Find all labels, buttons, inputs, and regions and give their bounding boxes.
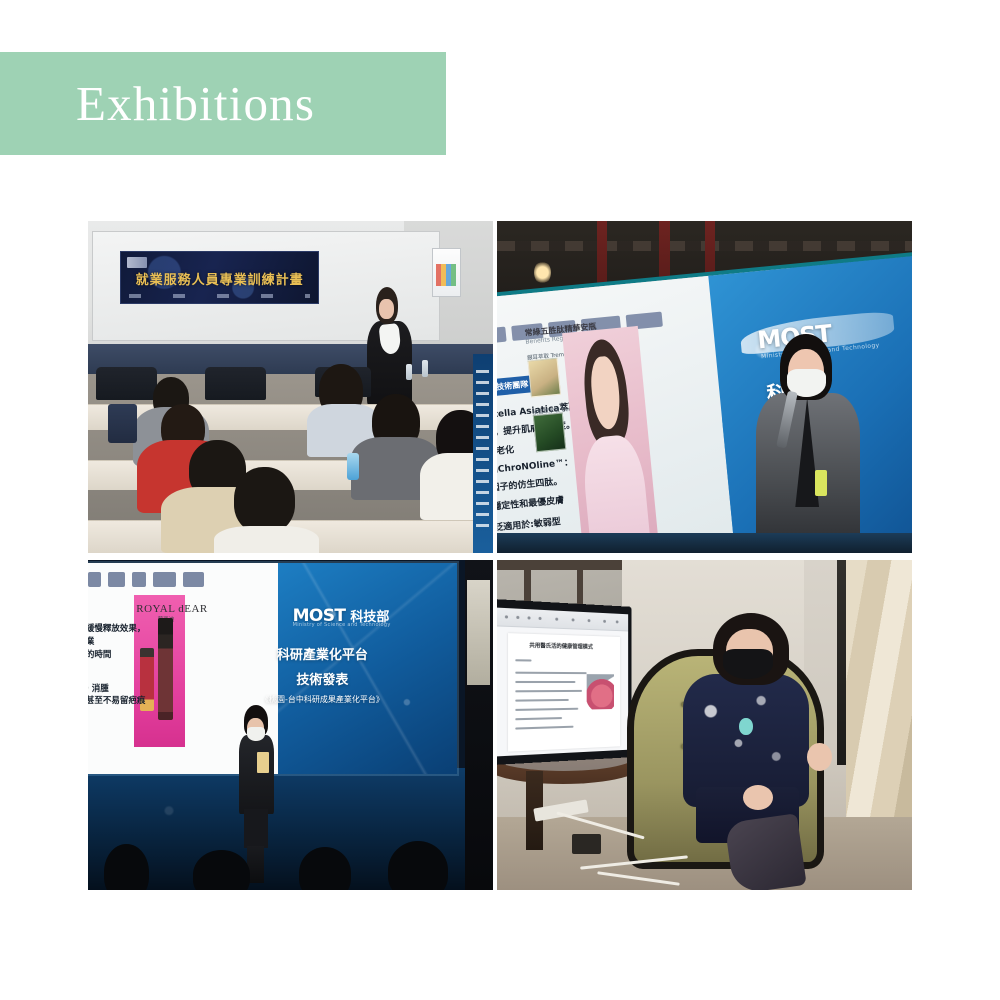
slide-text-line: 專利ChroNOline™： [497,455,573,475]
presenter-face-mask [247,727,265,741]
attendee-body [214,526,319,553]
monitor-screen: 共用醫氏活的健康管理模式 [497,607,628,757]
led-stage-scene: 研發技術團隊 Centella Asiatica萃取： 成分，提升肌膚緊緻度。 … [497,221,912,553]
exhibitions-page: Exhibitions 就業服務人員專業訓練計畫 [0,0,1000,1000]
photo-projection-stage[interactable]: ROYAL dEAR 蘿亞迪 緩慢釋放效果， 業 的時間 ‧ 消腫 甚至不易留疤… [88,560,493,890]
document-toolbar[interactable] [497,607,628,632]
interview-room-scene: 共用醫氏活的健康管理模式 [497,560,912,890]
classroom-scene: 就業服務人員專業訓練計畫 [88,221,493,553]
ceiling-lamp [534,261,551,284]
document-title: 共用醫氏活的健康管理模式 [529,641,593,651]
slide-bullet: 緩慢釋放效果， [88,622,145,634]
interviewee-face-mask [723,649,773,679]
desktop-monitor[interactable]: 共用醫氏活的健康管理模式 [497,599,632,766]
attendee-head [234,467,295,533]
photo-led-stage-presentation[interactable]: 研發技術團隊 Centella Asiatica萃取： 成分，提升肌膚緊緻度。 … [497,221,912,553]
slide-ingredient-thumb [533,413,566,452]
resting-hand [743,785,773,810]
slide-text-line: 高穩定性和最優皮膚 [497,493,565,512]
audience-head [193,850,250,890]
water-bottle [422,360,428,377]
stage-right-panel [465,560,493,890]
interviewee [663,613,829,890]
slide-team-tag-label: 研發技術團隊 [497,379,529,395]
slide-subtitle: 《桃園-台中科研成果產業化平台》 [88,694,457,705]
slide-title-line-2: 技術發表 [88,669,457,688]
slide-ingredient-thumb [527,358,560,397]
slide-sponsor-logos [88,570,204,589]
page-title: Exhibitions [76,79,315,128]
slide-model-photo [563,326,661,553]
training-banner: 就業服務人員專業訓練計畫 [120,251,318,304]
document-page: 共用醫氏活的健康管理模式 [507,633,620,752]
speaker-face-mask [379,299,394,319]
exhibitions-photo-grid: 就業服務人員專業訓練計畫 [88,221,912,890]
brooch [739,718,752,735]
slide-title-line-1: 科研產業化平台 [88,644,457,663]
photo-interview-room[interactable]: 共用醫氏活的健康管理模式 [497,560,912,890]
document-figure [586,674,614,710]
wall-poster [432,248,460,298]
projection-stage-scene: ROYAL dEAR 蘿亞迪 緩慢釋放效果， 業 的時間 ‧ 消腫 甚至不易留疤… [88,560,493,890]
name-badge [815,470,827,496]
presenter-notes [257,752,269,773]
stage-front-edge [497,533,912,553]
water-bottle [406,364,412,381]
slide-text-line: 長因子的仿生四肽。 [497,475,563,494]
royal-dear-brand: ROYAL dEAR [136,603,208,615]
slide-text-line: 受損老化 [497,442,514,456]
page-header-banner: Exhibitions [0,52,446,155]
stage-speaker [754,334,862,553]
led-wall-slide-left: 研發技術團隊 Centella Asiatica萃取： 成分，提升肌膚緊緻度。 … [497,276,738,553]
audience-silhouettes [88,857,493,890]
gesturing-hand [807,743,832,771]
blue-water-bottle [347,453,359,480]
chair [205,367,266,400]
rollup-banner [473,354,493,553]
chair [96,367,157,400]
backpack [108,404,136,444]
slide-text-line: 廣泛適用於:敏弱型 [497,515,561,533]
power-adapter [572,834,601,854]
audience-head [104,844,149,890]
most-ministry-line: Ministry of Science and Technology [293,622,391,628]
photo-classroom-training[interactable]: 就業服務人員專業訓練計畫 [88,221,493,553]
training-banner-text: 就業服務人員專業訓練計畫 [136,269,304,288]
slide-team-tag: 研發技術團隊 [497,376,533,399]
